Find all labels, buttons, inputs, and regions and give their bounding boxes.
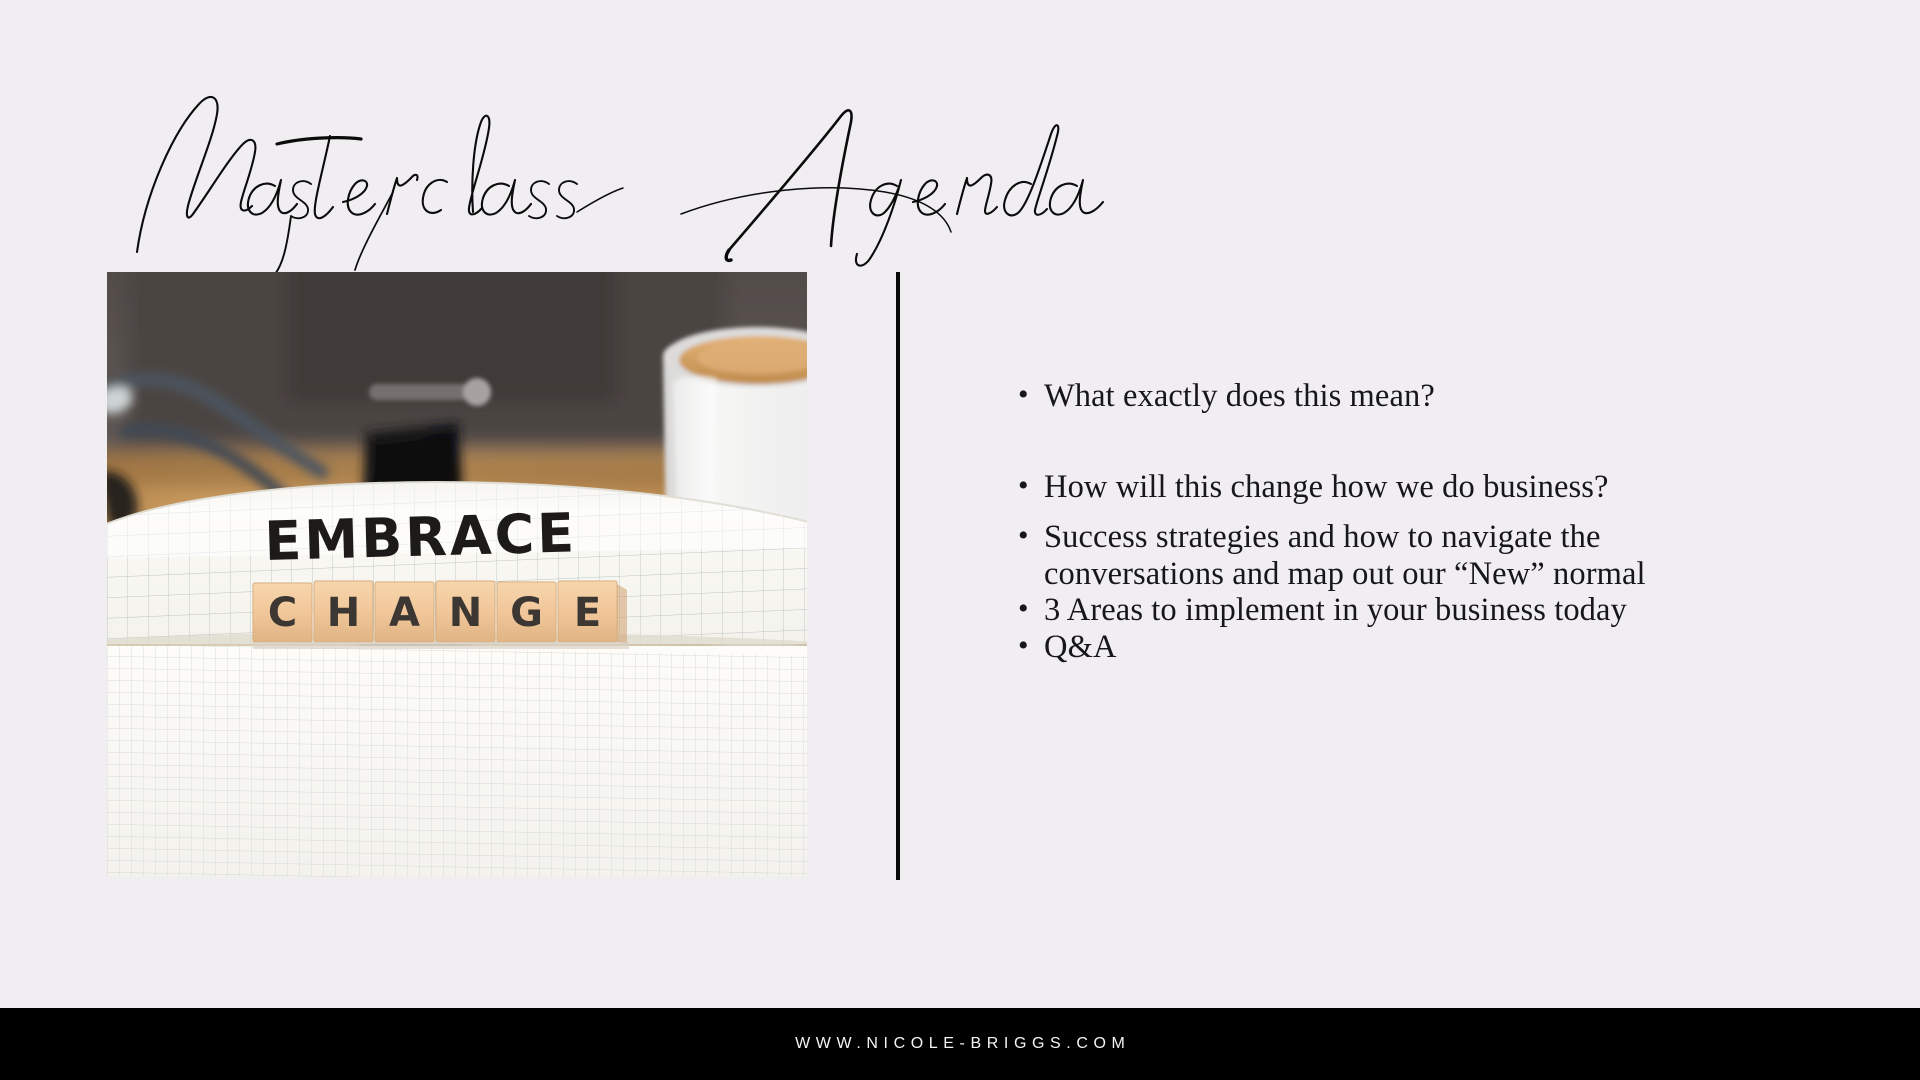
list-spacer	[1012, 505, 1772, 519]
photo-artwork: EMBRACE C H A	[107, 272, 807, 877]
tile-letter: E	[574, 590, 601, 636]
tile-n: N	[436, 581, 495, 642]
title-word-masterclass-strokes	[137, 97, 623, 274]
list-item-text: What exactly does this mean?	[1044, 378, 1435, 414]
bullet-marker: •	[1018, 519, 1029, 553]
bullet-marker: •	[1018, 469, 1029, 503]
tile-letter: N	[449, 590, 482, 636]
bullet-marker: •	[1018, 378, 1029, 412]
bullet-marker: •	[1018, 629, 1029, 663]
agenda-bullet-list: • What exactly does this mean? • How wil…	[1012, 378, 1772, 665]
tile-e: E	[558, 581, 617, 642]
footer-website-url[interactable]: WWW.NICOLE-BRIGGS.COM	[790, 1035, 1131, 1053]
tile-letter: C	[268, 590, 297, 636]
list-item: • What exactly does this mean?	[1012, 378, 1772, 415]
tile-letter: G	[510, 590, 543, 636]
list-item: • 3 Areas to implement in your business …	[1012, 592, 1772, 629]
list-item: • Success strategies and how to navigate…	[1012, 519, 1772, 592]
tile-letter: A	[389, 590, 420, 636]
list-item: • Q&A	[1012, 629, 1772, 666]
tile-h: H	[314, 581, 373, 642]
tile-c: C	[253, 583, 312, 642]
tile-a: A	[375, 582, 434, 642]
bullet-marker: •	[1018, 592, 1029, 626]
list-item: • How will this change how we do busines…	[1012, 469, 1772, 506]
list-spacer	[1012, 415, 1772, 469]
list-item-text: Success strategies and how to navigate t…	[1044, 519, 1646, 592]
embrace-handwriting: EMBRACE	[264, 501, 578, 573]
list-item-text: 3 Areas to implement in your business to…	[1044, 592, 1627, 628]
page-title: Masterclass Agenda	[0, 74, 1260, 254]
change-tiles: C H A N	[253, 581, 629, 649]
title-word-agenda-strokes	[681, 110, 1103, 265]
agenda-photo: EMBRACE C H A	[107, 272, 807, 877]
title-script-art: Masterclass Agenda	[125, 74, 1135, 254]
slide-canvas: Masterclass Agenda	[0, 0, 1920, 1080]
list-item-text: Q&A	[1044, 629, 1117, 665]
list-item-text: How will this change how we do business?	[1044, 469, 1609, 505]
tile-letter: H	[327, 590, 360, 636]
footer-bar: WWW.NICOLE-BRIGGS.COM	[0, 1008, 1920, 1080]
tile-g: G	[497, 582, 556, 642]
vertical-divider	[896, 272, 900, 880]
